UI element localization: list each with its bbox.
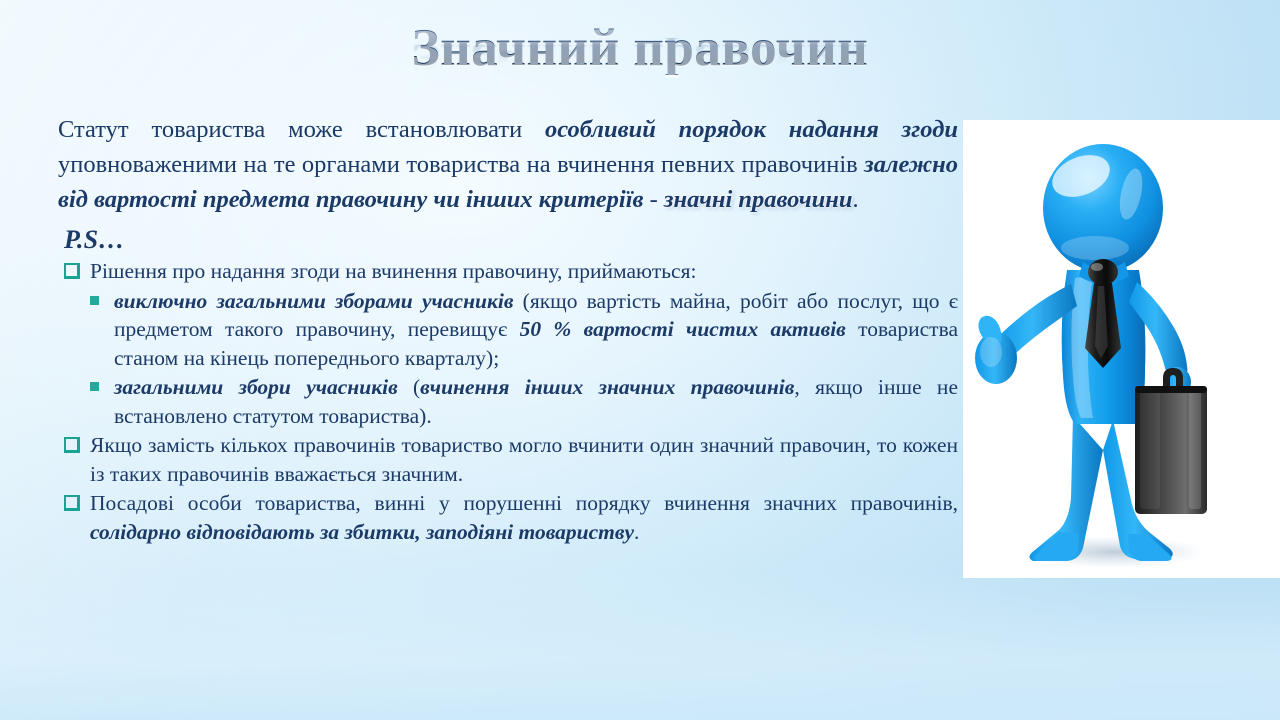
list-item: Посадові особи товариства, винні у поруш… bbox=[58, 489, 958, 546]
slide-body: Статут товариства може встановлювати осо… bbox=[58, 112, 958, 547]
list-item-text: Рішення про надання згоди на вчинення пр… bbox=[90, 259, 696, 283]
list-item-emphasis: загальними збори учасників bbox=[114, 375, 398, 399]
list-item-emphasis: солідарно відповідають за збитки, заподі… bbox=[90, 520, 634, 544]
checkbox-bullet-icon bbox=[64, 437, 80, 453]
bullet-list: Рішення про надання згоди на вчинення пр… bbox=[58, 257, 958, 546]
list-item: Якщо замість кількох правочинів товарист… bbox=[58, 431, 958, 488]
checkbox-bullet-icon bbox=[64, 263, 80, 279]
ps-heading: P.S… bbox=[64, 225, 958, 255]
list-item: загальними збори учасників (вчинення інш… bbox=[58, 373, 958, 430]
list-item-emphasis: вчинення інших значних правочинів bbox=[420, 375, 794, 399]
list-item-text: . bbox=[634, 520, 639, 544]
illustration-panel bbox=[963, 120, 1280, 578]
slide-title-block: Значний правочин Значний правочин bbox=[0, 22, 1280, 129]
intro-seg-6-highlight: значні правочини bbox=[664, 186, 853, 213]
page-title: Значний правочин bbox=[412, 22, 869, 75]
list-item-emphasis: виключно загальними зборами учасників bbox=[114, 289, 513, 313]
square-bullet-icon bbox=[90, 382, 99, 391]
list-item-text: Якщо замість кількох правочинів товарист… bbox=[90, 433, 958, 486]
checkbox-bullet-icon bbox=[64, 495, 80, 511]
list-item-emphasis: 50 % вартості чистих активів bbox=[520, 317, 846, 341]
square-bullet-icon bbox=[90, 296, 99, 305]
list-item: Рішення про надання згоди на вчинення пр… bbox=[58, 257, 958, 286]
list-item-text: Посадові особи товариства, винні у поруш… bbox=[90, 491, 958, 515]
list-item: виключно загальними зборами учасників (я… bbox=[58, 287, 958, 373]
intro-seg-3: уповноваженими на те органами товариства… bbox=[58, 151, 864, 178]
intro-seg-5: - bbox=[644, 186, 664, 213]
list-item-text: ( bbox=[398, 375, 420, 399]
intro-seg-7: . bbox=[852, 186, 858, 213]
slide-canvas: Значний правочин Значний правочин bbox=[0, 0, 1280, 720]
